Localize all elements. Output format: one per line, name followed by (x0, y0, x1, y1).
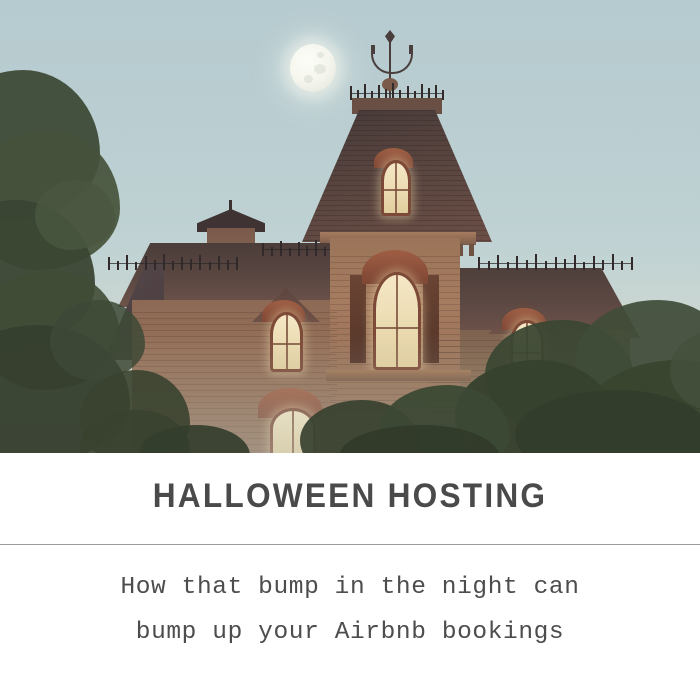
caption-block: HALLOWEEN HOSTING How that bump in the n… (0, 453, 700, 700)
iron-cresting-tower (350, 80, 444, 100)
hero-photo (0, 0, 700, 453)
divider (0, 544, 700, 545)
subtitle-line-1: How that bump in the night can (0, 565, 700, 610)
iron-cresting-right (478, 250, 633, 270)
tree-left (0, 70, 170, 453)
shrubs-center (300, 380, 530, 453)
shrubs-left-low (80, 400, 230, 453)
lit-window-tower (381, 160, 411, 216)
window-mullion (376, 327, 418, 329)
weathervane-crescent-icon (371, 52, 413, 74)
subtitle: How that bump in the night can bump up y… (0, 565, 700, 655)
window-mullion (384, 189, 408, 191)
window-mullion (395, 163, 397, 213)
halloween-hosting-graphic: HALLOWEEN HOSTING How that bump in the n… (0, 0, 700, 700)
page-title: HALLOWEEN HOSTING (25, 477, 676, 516)
subtitle-line-2: bump up your Airbnb bookings (0, 610, 700, 655)
